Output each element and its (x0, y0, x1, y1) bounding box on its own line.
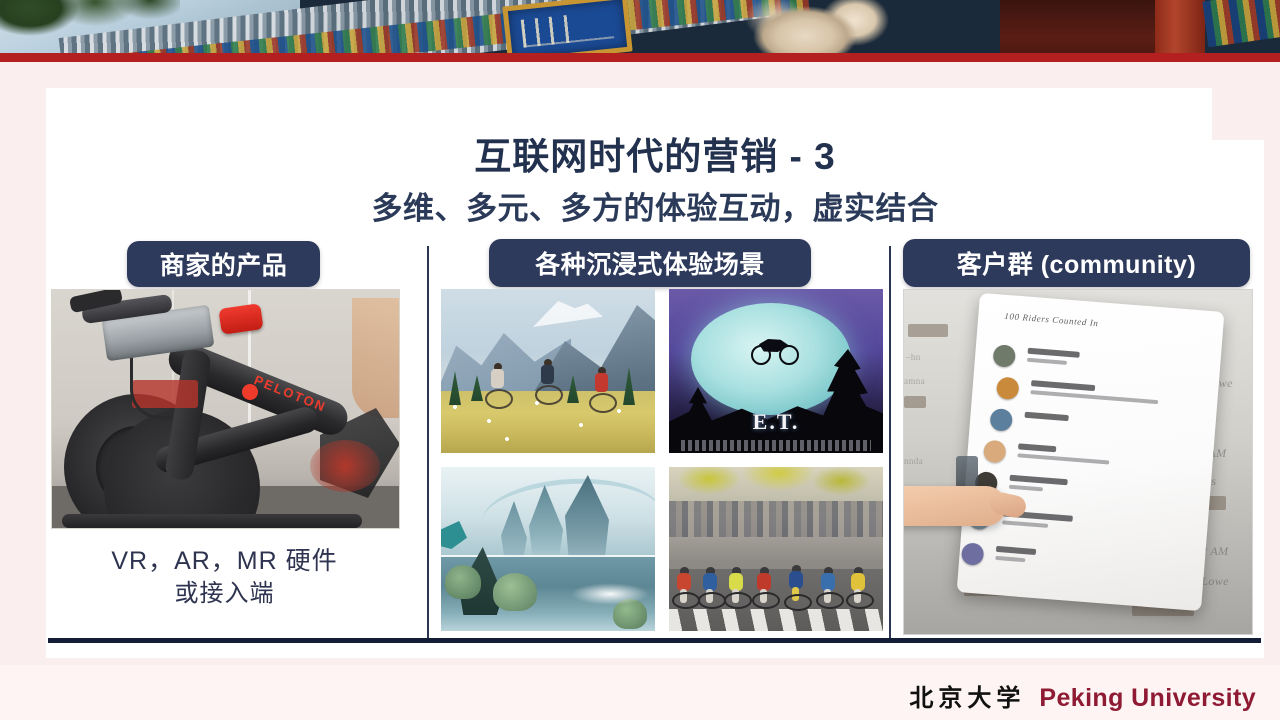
section-heading-customer-community: 客户群 (community) (903, 239, 1250, 287)
rider-detail (995, 556, 1025, 562)
scene-image-et-poster: E.T. (669, 289, 883, 453)
pku-logo-english: Peking University (1039, 684, 1256, 713)
caption-line-2: 或接入端 (51, 578, 398, 610)
cyclist-wheels (672, 592, 700, 609)
movie-title-text: E.T. (753, 409, 800, 435)
water-foam (571, 583, 649, 605)
cyclist-wheels (752, 592, 780, 609)
rider-detail (1002, 520, 1048, 528)
avatar (992, 344, 1016, 368)
rider-detail (1009, 485, 1043, 492)
pku-logo-chinese: 北京大学 (909, 678, 1025, 713)
crosswalk-markings (669, 609, 883, 631)
banner-right-decoration (1202, 0, 1280, 47)
left-column-caption: VR，AR，MR 硬件 或接入端 (51, 545, 398, 610)
rider-detail (1027, 358, 1067, 365)
spectator-crowd (669, 501, 883, 537)
board-plate (904, 396, 926, 408)
cyclist-wheels (698, 592, 726, 609)
race-cyclist (725, 567, 747, 609)
board-plate (908, 324, 948, 337)
rider-detail (1030, 390, 1158, 404)
cyclist-wheels (724, 592, 752, 609)
caption-line-1: VR，AR，MR 硬件 (111, 547, 337, 575)
avatar (989, 408, 1013, 432)
column-divider-left (427, 246, 429, 640)
race-cyclist (699, 567, 721, 609)
rider-name (1024, 412, 1068, 421)
page-title: 互联网时代的营销 - 3 (46, 126, 1264, 180)
race-cyclist (847, 567, 869, 609)
race-cyclist (753, 567, 775, 609)
bike-wheel (751, 345, 771, 365)
rider-name (1028, 348, 1080, 358)
bike-rear-red-glow (310, 440, 380, 492)
header-photo-banner (0, 0, 1280, 62)
avatar (961, 542, 985, 566)
board-text: nnda (904, 456, 923, 466)
bike-wheel (779, 345, 799, 365)
scene-image-mountain-biking (441, 289, 655, 453)
bike-base-frame (62, 514, 362, 528)
board-text: amna (904, 376, 925, 386)
section-heading-merchant-products: 商家的产品 (127, 241, 320, 287)
peking-university-logo: 北京大学 Peking University (909, 678, 1256, 713)
cyclist-wheels (816, 592, 844, 609)
moss-mound (445, 565, 481, 599)
mountain-biker (535, 365, 559, 405)
rider-name (1018, 443, 1056, 452)
section-heading-immersive-scenes: 各种沉浸式体验场景 (489, 239, 811, 287)
rider-bike (589, 393, 617, 413)
avatar (996, 376, 1020, 400)
rider-name (1031, 380, 1095, 391)
column-divider-right (889, 246, 891, 640)
leaderboard-title: 100 Riders Counted In (1004, 311, 1099, 328)
phone-in-background (956, 456, 978, 488)
scene-image-ice-landscape (441, 467, 655, 631)
rider-detail (1017, 453, 1109, 464)
race-cyclist (673, 567, 695, 609)
person-leg (352, 298, 399, 418)
immersive-scenes-grid: E.T. (441, 289, 883, 632)
rider-name (1009, 475, 1067, 486)
race-cyclist (817, 567, 839, 609)
rider-torso (541, 365, 554, 384)
community-ar-image: –hn amna nnda AM Ty Lowe :00 AM Thomas :… (903, 289, 1253, 635)
poster-credits-block (681, 440, 871, 451)
bottom-rule (48, 638, 1261, 643)
scene-image-road-cycling-race (669, 467, 883, 631)
cyclist-wheels (846, 592, 874, 609)
page-subtitle: 多维、多元、多方的体验互动，虚实结合 (46, 183, 1264, 228)
mountain-biker (589, 373, 613, 413)
rider-torso (595, 373, 608, 392)
ar-leaderboard-panel[interactable]: 100 Riders Counted In (957, 293, 1225, 611)
peloton-bike-image: PELOTON (51, 289, 400, 529)
banner-red-base-strip (0, 53, 1280, 62)
cyclist-wheels (784, 594, 812, 611)
avatar (983, 440, 1007, 464)
flying-bicycle-silhouette (751, 339, 799, 361)
rider-bike (485, 389, 513, 409)
race-cyclist (785, 565, 807, 611)
rider-bike (535, 385, 563, 405)
board-text: –hn (906, 352, 921, 362)
rider-torso (491, 369, 504, 388)
mountain-biker (485, 369, 509, 409)
moss-mound (493, 573, 537, 611)
rider-name (996, 546, 1036, 555)
